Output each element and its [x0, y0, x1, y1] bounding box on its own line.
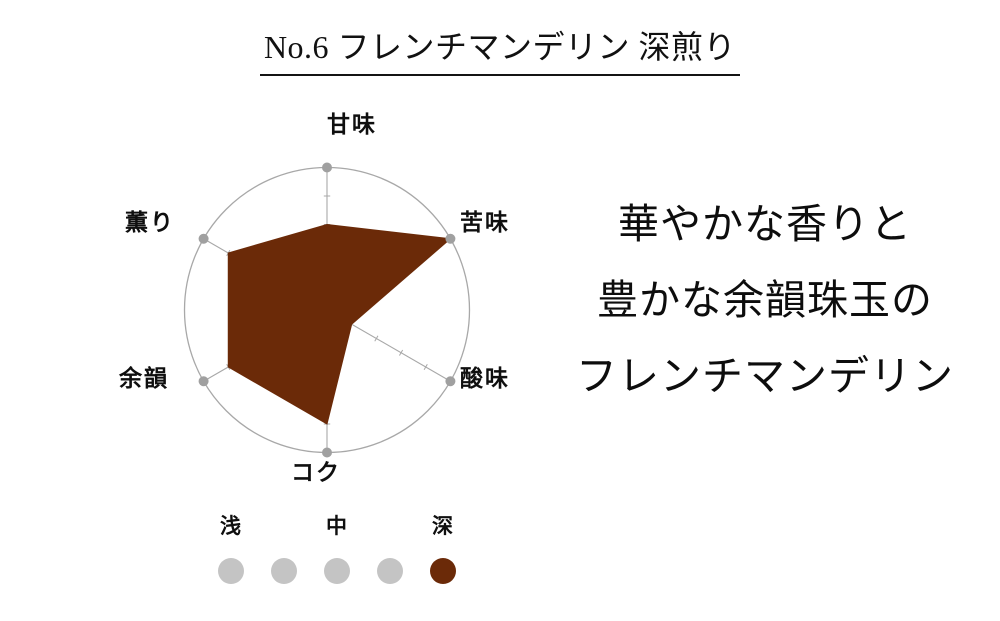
description-line-1: 華やかな香りと: [545, 186, 985, 262]
radar-chart: 甘味 苦味 酸味 コク 余韻 薫り: [70, 100, 590, 520]
description-line-2: 豊かな余韻珠玉の: [545, 262, 985, 338]
roast-level-label-浅: 浅: [220, 516, 242, 537]
radar-chart-svg: [70, 100, 590, 520]
roast-legend-dots: [205, 558, 465, 598]
axis-label-bitterness: 苦味: [460, 212, 510, 235]
axis-label-aroma: 薫り: [125, 212, 175, 235]
axis-label-aftertaste: 余韻: [119, 368, 169, 391]
roast-legend-labels: 浅中深: [205, 516, 465, 546]
roast-level-legend: 浅中深: [205, 516, 465, 596]
product-description: 華やかな香りと 豊かな余韻珠玉の フレンチマンデリン: [545, 186, 985, 414]
roast-level-dot-3[interactable]: [324, 558, 350, 584]
axis-label-sweetness: 甘味: [327, 114, 377, 137]
roast-level-label-中: 中: [326, 516, 348, 537]
roast-level-dot-5[interactable]: [430, 558, 456, 584]
radar-series-polygon: [228, 225, 450, 425]
axis-label-acidity: 酸味: [460, 368, 510, 391]
page-title: No.6 フレンチマンデリン 深煎り: [260, 26, 740, 76]
roast-level-dot-2[interactable]: [271, 558, 297, 584]
roast-level-dot-4[interactable]: [377, 558, 403, 584]
roast-level-dot-1[interactable]: [218, 558, 244, 584]
description-line-3: フレンチマンデリン: [545, 338, 985, 414]
roast-level-label-深: 深: [432, 516, 454, 537]
axis-label-body: コク: [291, 462, 341, 485]
page-title-wrapper: No.6 フレンチマンデリン 深煎り: [0, 26, 1000, 76]
